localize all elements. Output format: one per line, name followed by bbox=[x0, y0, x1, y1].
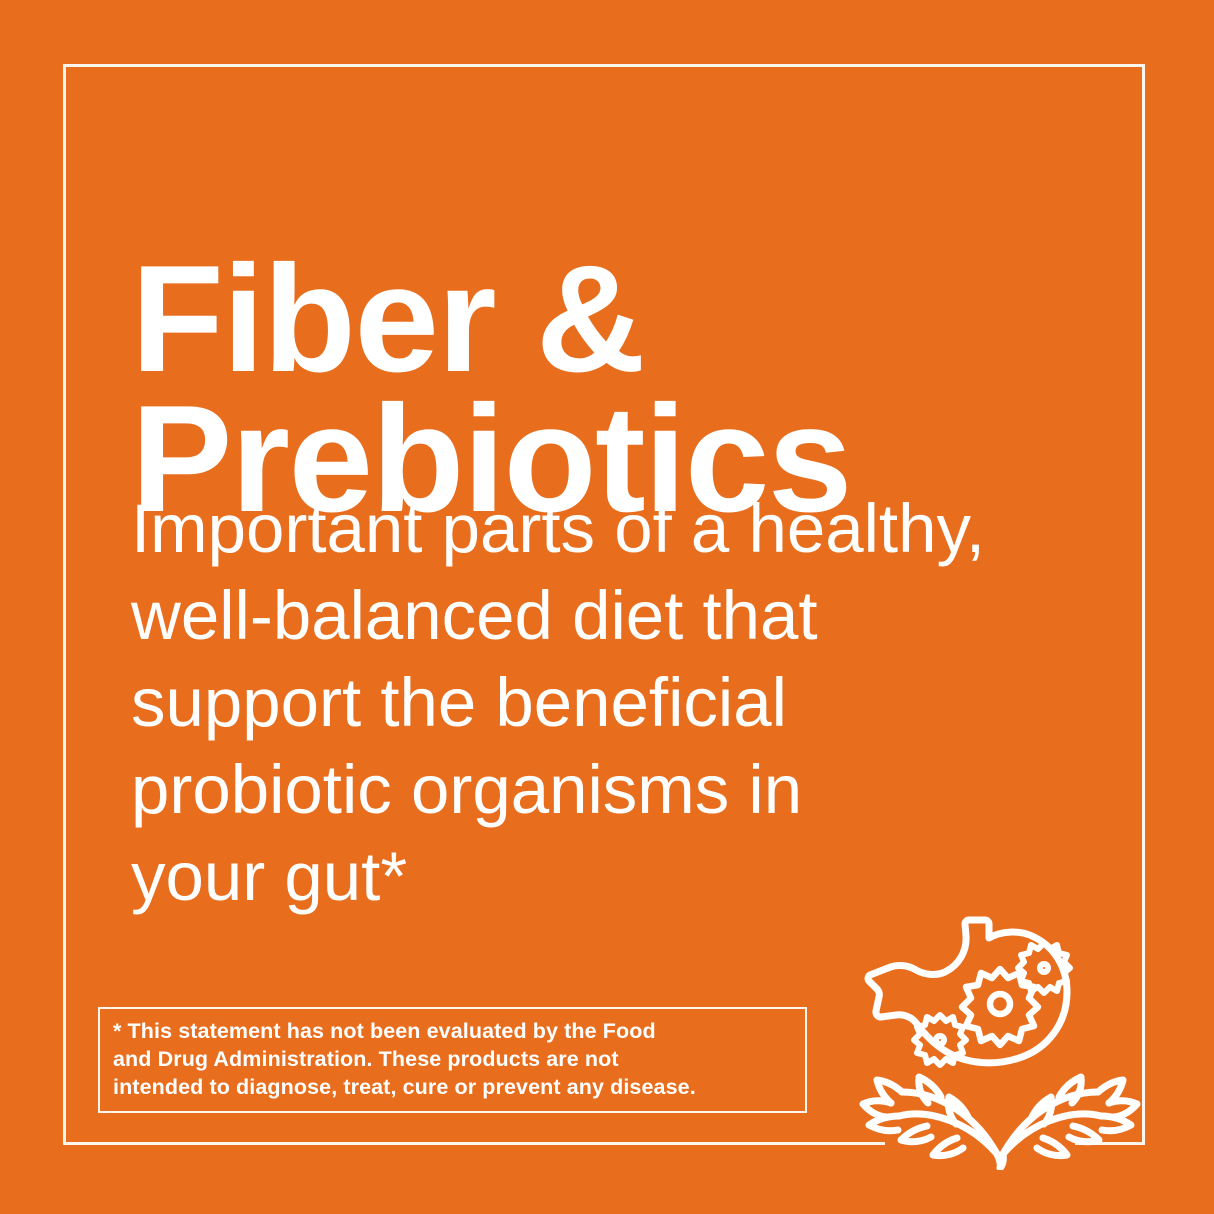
body-copy-line-4: probiotic organisms in bbox=[131, 747, 1131, 834]
fda-disclaimer-line-1: * This statement has not been evaluated … bbox=[113, 1018, 793, 1046]
fda-disclaimer-line-3: intended to diagnose, treat, cure or pre… bbox=[113, 1074, 793, 1102]
stomach-probiotics-wheat-icon bbox=[845, 905, 1155, 1170]
body-copy-line-3: support the beneficial bbox=[131, 660, 1131, 747]
frame-top-edge bbox=[63, 64, 1145, 67]
body-copy-line-1: Important parts of a healthy, bbox=[131, 486, 1131, 573]
fda-disclaimer: * This statement has not been evaluated … bbox=[98, 1007, 807, 1113]
frame-left-edge bbox=[63, 64, 66, 1145]
wheat-frond-right bbox=[1003, 1077, 1137, 1156]
frame-bottom-edge-left bbox=[63, 1142, 885, 1145]
wheat-stem-base bbox=[997, 1154, 1003, 1168]
fda-disclaimer-line-2: and Drug Administration. These products … bbox=[113, 1046, 793, 1074]
body-copy: Important parts of a healthy, well-balan… bbox=[131, 486, 1131, 921]
body-copy-line-2: well-balanced diet that bbox=[131, 573, 1131, 660]
page-title-line-1: Fiber & bbox=[131, 250, 1031, 390]
wheat-frond-left bbox=[863, 1077, 997, 1156]
promo-card: Fiber & Prebiotics Important parts of a … bbox=[0, 0, 1214, 1214]
